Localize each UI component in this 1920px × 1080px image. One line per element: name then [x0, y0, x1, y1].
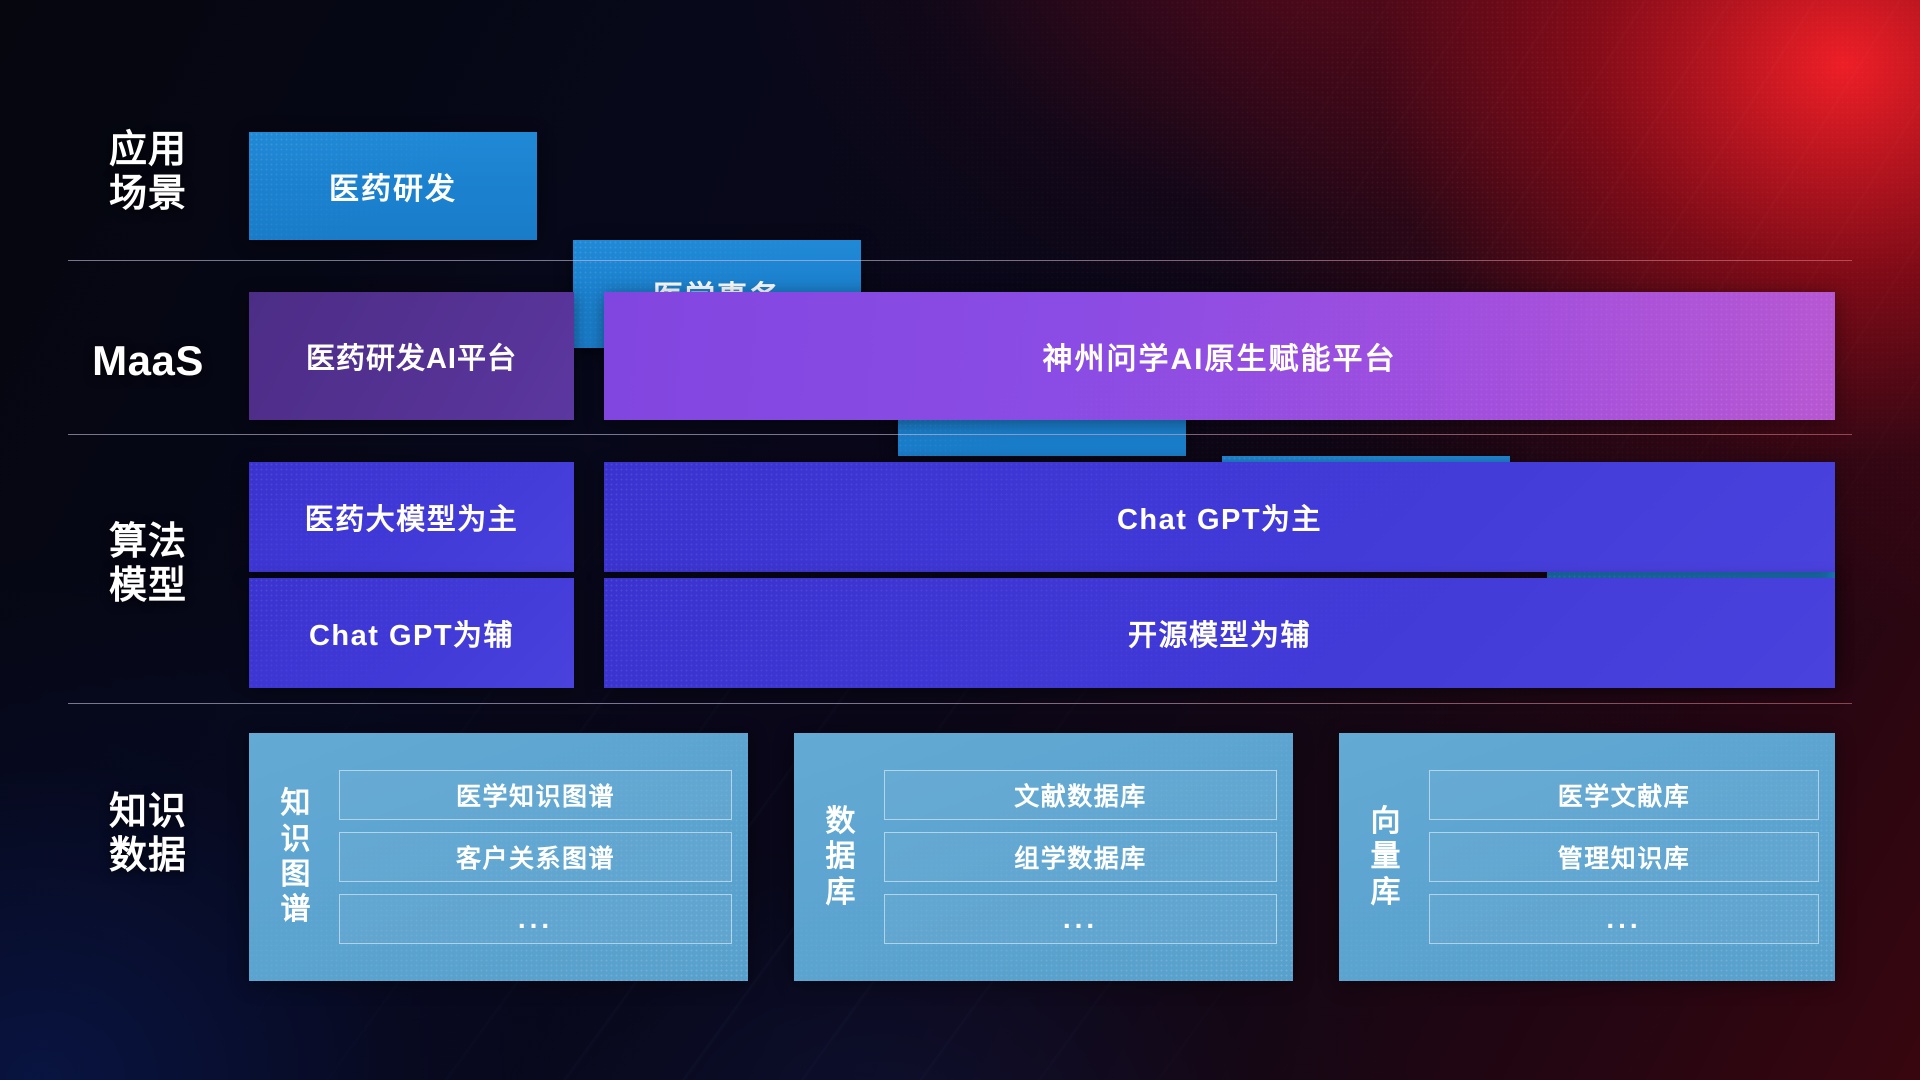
maas-platform-box-right[interactable]: 神州问学AI原生赋能平台 [604, 292, 1835, 420]
algorithm-label: Chat GPT为辅 [309, 612, 514, 654]
knowledge-panel-item-list: 医学知识图谱 客户关系图谱 ... [339, 770, 732, 944]
row-divider-3 [68, 703, 1852, 704]
algorithm-label: 医药大模型为主 [305, 496, 519, 538]
knowledge-item[interactable]: 文献数据库 [884, 770, 1277, 820]
knowledge-panel-vector-store[interactable]: 向量库 医学文献库 管理知识库 ... [1339, 733, 1835, 981]
algorithm-box-primary-right[interactable]: Chat GPT为主 [604, 462, 1835, 572]
knowledge-item[interactable]: 组学数据库 [884, 832, 1277, 882]
row-label-algorithm-model: 算法 模型 [58, 520, 238, 608]
knowledge-panel-vertical-label: 数据库 [812, 804, 870, 910]
row-label-line: 场景 [58, 172, 238, 216]
knowledge-panel-vertical-label: 知识图谱 [267, 786, 325, 928]
knowledge-item[interactable]: 管理知识库 [1429, 832, 1819, 882]
algorithm-box-primary-left[interactable]: 医药大模型为主 [249, 462, 574, 572]
maas-left-label: 医药研发AI平台 [306, 335, 517, 377]
app-scenario-label: 医药研发 [329, 164, 457, 208]
algorithm-box-secondary-right[interactable]: 开源模型为辅 [604, 578, 1835, 688]
knowledge-panel-database[interactable]: 数据库 文献数据库 组学数据库 ... [794, 733, 1293, 981]
row-label-line: 数据 [58, 834, 238, 878]
knowledge-panel-item-list: 医学文献库 管理知识库 ... [1429, 770, 1819, 944]
row-label-line: 算法 [58, 520, 238, 564]
knowledge-panel-vertical-label: 向量库 [1357, 804, 1415, 910]
row-label-line: 模型 [58, 564, 238, 608]
knowledge-panel-item-list: 文献数据库 组学数据库 ... [884, 770, 1277, 944]
knowledge-item-more[interactable]: ... [1429, 894, 1819, 944]
app-scenario-box-1[interactable]: 医药研发 [249, 132, 537, 240]
row-label-knowledge-data: 知识 数据 [58, 790, 238, 878]
knowledge-item[interactable]: 客户关系图谱 [339, 832, 732, 882]
row-label-line: 知识 [58, 790, 238, 834]
knowledge-item[interactable]: 医学文献库 [1429, 770, 1819, 820]
row-label-maas: MaaS [58, 337, 238, 386]
maas-right-label: 神州问学AI原生赋能平台 [1043, 334, 1397, 378]
row-label-application-scenario: 应用 场景 [58, 128, 238, 216]
algorithm-label: Chat GPT为主 [1117, 496, 1322, 538]
slide-canvas: 应用 场景 医药研发 医学事务 企业知识 效能工具 质量管理 MaaS 医药研发… [0, 0, 1920, 1080]
row-divider-1 [68, 260, 1852, 261]
row-label-line: MaaS [58, 337, 238, 386]
algorithm-label: 开源模型为辅 [1128, 612, 1311, 654]
knowledge-item[interactable]: 医学知识图谱 [339, 770, 732, 820]
knowledge-item-more[interactable]: ... [884, 894, 1277, 944]
algorithm-box-secondary-left[interactable]: Chat GPT为辅 [249, 578, 574, 688]
row-divider-2 [68, 434, 1852, 435]
knowledge-panel-knowledge-graph[interactable]: 知识图谱 医学知识图谱 客户关系图谱 ... [249, 733, 748, 981]
knowledge-item-more[interactable]: ... [339, 894, 732, 944]
row-label-line: 应用 [58, 128, 238, 172]
maas-platform-box-left[interactable]: 医药研发AI平台 [249, 292, 574, 420]
